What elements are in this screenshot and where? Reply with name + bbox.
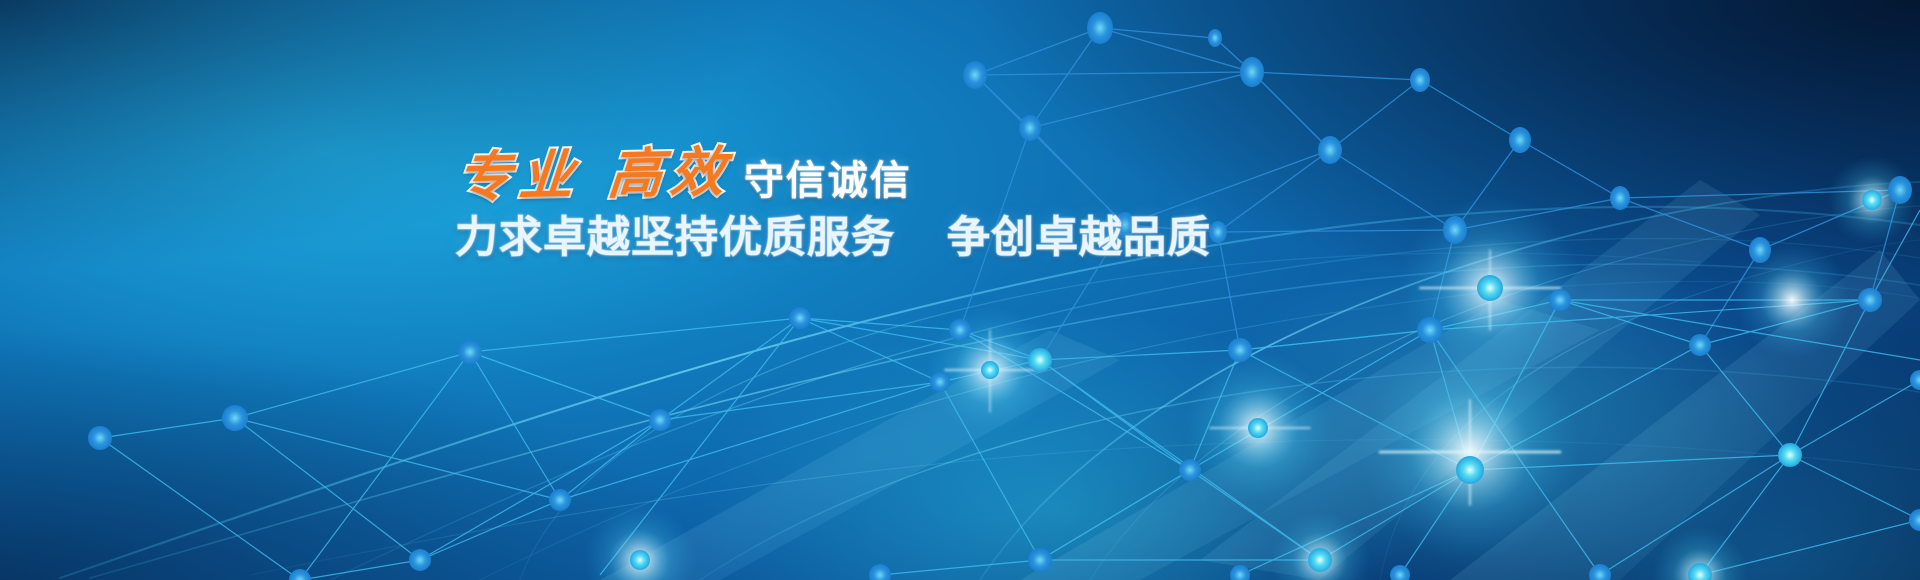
headline-line-1: 专业 高效 守信诚信 (455, 138, 1155, 204)
headline-block: 专业 高效 守信诚信 力求卓越坚持优质服务 争创卓越品质 (455, 138, 1155, 262)
network-constellation-graphic (0, 0, 1920, 580)
subhead-part-2: 争创卓越品质 (947, 213, 1211, 263)
headline-line-2: 力求卓越坚持优质服务 争创卓越品质 (455, 214, 1155, 262)
headline-accent-text: 守信诚信 (744, 161, 912, 204)
hero-banner: 专业 高效 守信诚信 力求卓越坚持优质服务 争创卓越品质 (0, 0, 1920, 580)
headline-brush-text: 专业 高效 (455, 144, 735, 204)
subhead-part-1: 力求卓越坚持优质服务 (455, 213, 895, 263)
